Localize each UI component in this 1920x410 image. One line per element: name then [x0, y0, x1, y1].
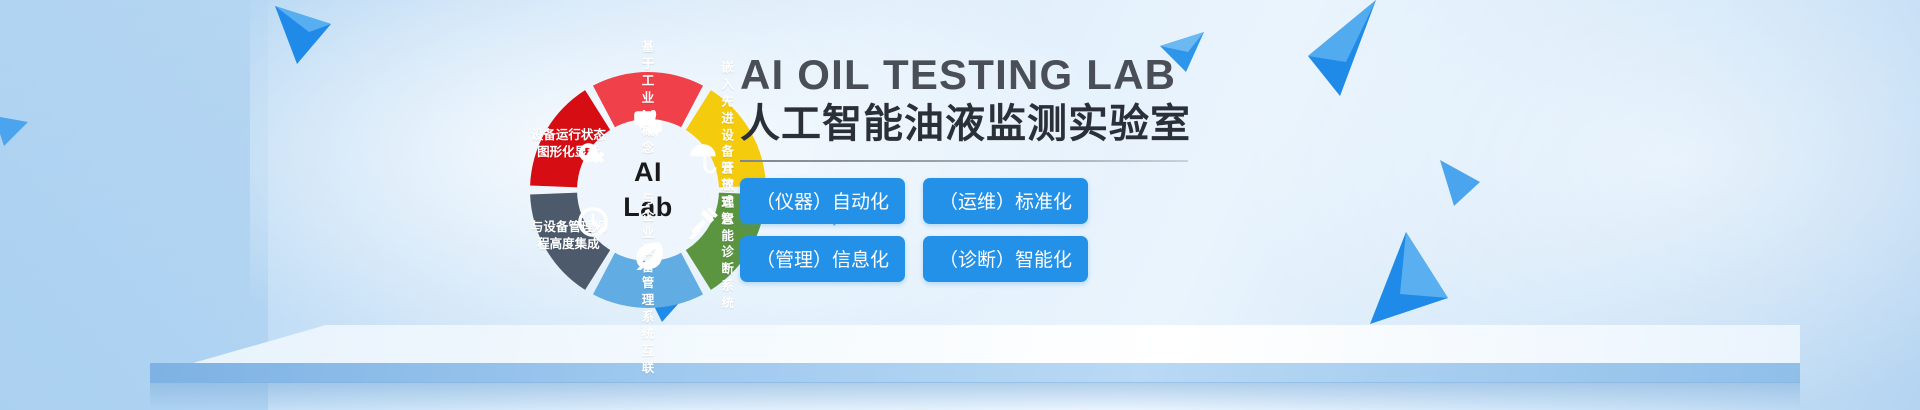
gavel-icon [686, 205, 720, 239]
badge-3[interactable]: （管理）信息化 [740, 236, 905, 282]
wheel-slice-label-4: 与企业设备管理系 统互联 [642, 191, 655, 377]
podium-surface [150, 325, 1800, 365]
wheel-slice-label-3: 开放式智能 诊断系统 [721, 160, 734, 312]
podium-front-face [150, 363, 1800, 383]
badge-4[interactable]: （诊断）智能化 [923, 236, 1088, 282]
background-wall-left [0, 0, 268, 410]
title-divider [740, 160, 1188, 162]
banner-root: AI Lab 基于工业 4.0 概念嵌入先进设备 管理理念开放式智能 诊断系统与… [0, 0, 1920, 410]
triangle-top-left [275, 6, 331, 64]
title-english: AI OIL TESTING LAB [740, 52, 1500, 97]
badge-2[interactable]: （运维）标准化 [923, 178, 1088, 224]
key-icon [576, 141, 610, 175]
leaf-icon [631, 237, 665, 271]
headline-block: AI OIL TESTING LAB 人工智能油液监测实验室 （仪器）自动化（运… [740, 52, 1500, 282]
title-chinese: 人工智能油液监测实验室 [740, 101, 1500, 148]
triangle-far-left [0, 116, 28, 146]
umbrella-icon [686, 141, 720, 175]
badge-1[interactable]: （仪器）自动化 [740, 178, 905, 224]
podium-shadow [150, 382, 1800, 410]
badge-list: （仪器）自动化（运维）标准化（管理）信息化（诊断）智能化 [740, 178, 1210, 282]
clock-icon [576, 205, 610, 239]
hub-label-line1: AI [634, 155, 662, 190]
chat-bubbles-icon [631, 107, 665, 141]
